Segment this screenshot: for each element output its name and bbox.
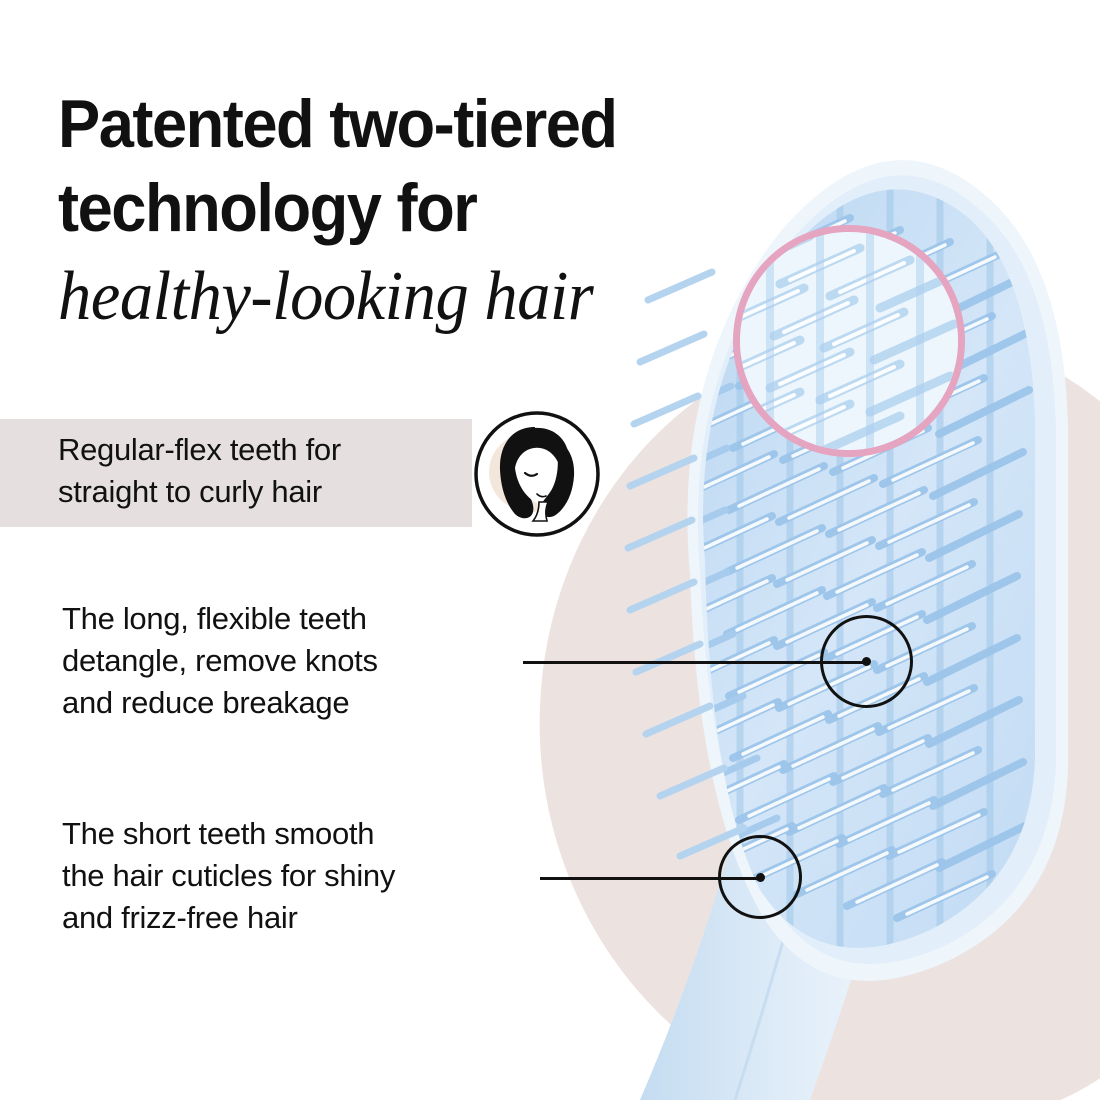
callout-long-teeth-text: The long, flexible teeth detangle, remov… — [62, 598, 512, 724]
banner-text: Regular-flex teeth for straight to curly… — [58, 429, 478, 513]
callout-1-line-1: The long, flexible teeth — [62, 598, 512, 640]
callout-1-line-3: and reduce breakage — [62, 682, 512, 724]
woman-profile-icon — [473, 410, 601, 538]
banner-line-1: Regular-flex teeth for — [58, 429, 478, 471]
callout-2-line-1: The short teeth smooth — [62, 813, 532, 855]
banner-line-2: straight to curly hair — [58, 471, 478, 513]
callout-1-leader-line — [523, 661, 868, 664]
callout-2-target-dot-icon — [718, 835, 802, 919]
headline-line-3-italic: healthy-looking hair — [58, 254, 780, 340]
headline-line-1: Patented two-tiered — [58, 82, 765, 166]
callout-2-line-2: the hair cuticles for shiny — [62, 855, 532, 897]
callout-2-line-3: and frizz-free hair — [62, 897, 532, 939]
callout-1-line-2: detangle, remove knots — [62, 640, 512, 682]
callout-short-teeth-text: The short teeth smooth the hair cuticles… — [62, 813, 532, 939]
product-feature-graphic: Patented two-tiered technology for healt… — [0, 0, 1100, 1100]
callout-1-target-dot-icon — [820, 615, 913, 708]
page-title: Patented two-tiered technology for healt… — [58, 82, 818, 340]
headline-line-2: technology for — [58, 166, 765, 250]
